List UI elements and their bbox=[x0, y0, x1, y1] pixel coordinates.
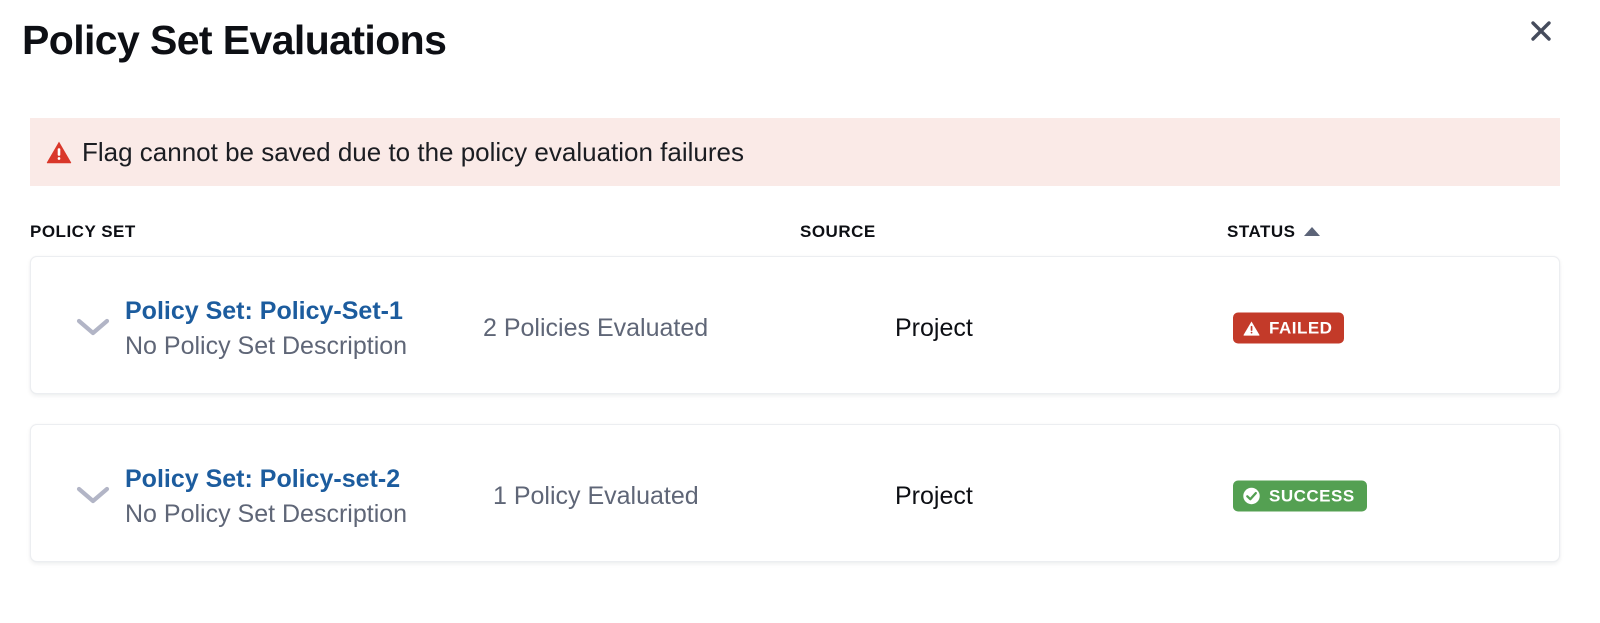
policy-set-link[interactable]: Policy Set: Policy-Set-1 bbox=[125, 295, 445, 328]
status-badge: SUCCESS bbox=[1233, 481, 1367, 512]
policies-evaluated-count: 2 Policies Evaluated bbox=[483, 313, 708, 343]
column-header-policy-set: POLICY SET bbox=[30, 222, 136, 242]
policy-set-description: No Policy Set Description bbox=[125, 330, 445, 363]
policy-set-list: Policy Set: Policy-Set-1 No Policy Set D… bbox=[0, 256, 1600, 592]
source-cell: Project bbox=[895, 481, 973, 511]
page-title: Policy Set Evaluations bbox=[22, 16, 446, 64]
policy-set-cell: Policy Set: Policy-set-2 No Policy Set D… bbox=[125, 463, 445, 531]
table-header: POLICY SET SOURCE STATUS bbox=[0, 206, 1600, 256]
column-header-status[interactable]: STATUS bbox=[1227, 222, 1320, 242]
warning-triangle-icon bbox=[1243, 320, 1260, 337]
column-header-source: SOURCE bbox=[800, 222, 876, 242]
policy-set-description: No Policy Set Description bbox=[125, 498, 445, 531]
close-button[interactable] bbox=[1524, 14, 1558, 48]
status-badge: FAILED bbox=[1233, 313, 1344, 344]
table-row[interactable]: Policy Set: Policy-set-2 No Policy Set D… bbox=[30, 424, 1560, 562]
policy-set-cell: Policy Set: Policy-Set-1 No Policy Set D… bbox=[125, 295, 445, 363]
check-circle-icon bbox=[1243, 488, 1260, 505]
policies-evaluated-count: 1 Policy Evaluated bbox=[493, 481, 699, 511]
status-cell: FAILED bbox=[1233, 313, 1344, 344]
status-badge-label: FAILED bbox=[1269, 318, 1332, 338]
status-cell: SUCCESS bbox=[1233, 481, 1367, 512]
warning-triangle-icon bbox=[46, 139, 72, 165]
policy-set-link[interactable]: Policy Set: Policy-set-2 bbox=[125, 463, 445, 496]
close-icon bbox=[1528, 18, 1554, 44]
error-alert-banner: Flag cannot be saved due to the policy e… bbox=[30, 118, 1560, 186]
status-badge-label: SUCCESS bbox=[1269, 486, 1355, 506]
column-header-status-label: STATUS bbox=[1227, 222, 1295, 242]
chevron-down-icon[interactable] bbox=[73, 475, 113, 515]
alert-message: Flag cannot be saved due to the policy e… bbox=[82, 137, 744, 167]
sort-ascending-icon bbox=[1304, 227, 1320, 236]
table-row[interactable]: Policy Set: Policy-Set-1 No Policy Set D… bbox=[30, 256, 1560, 394]
dialog-header: Policy Set Evaluations bbox=[0, 0, 1600, 96]
policy-set-evaluations-dialog: Policy Set Evaluations Flag cannot be sa… bbox=[0, 0, 1600, 623]
source-cell: Project bbox=[895, 313, 973, 343]
chevron-down-icon[interactable] bbox=[73, 307, 113, 347]
